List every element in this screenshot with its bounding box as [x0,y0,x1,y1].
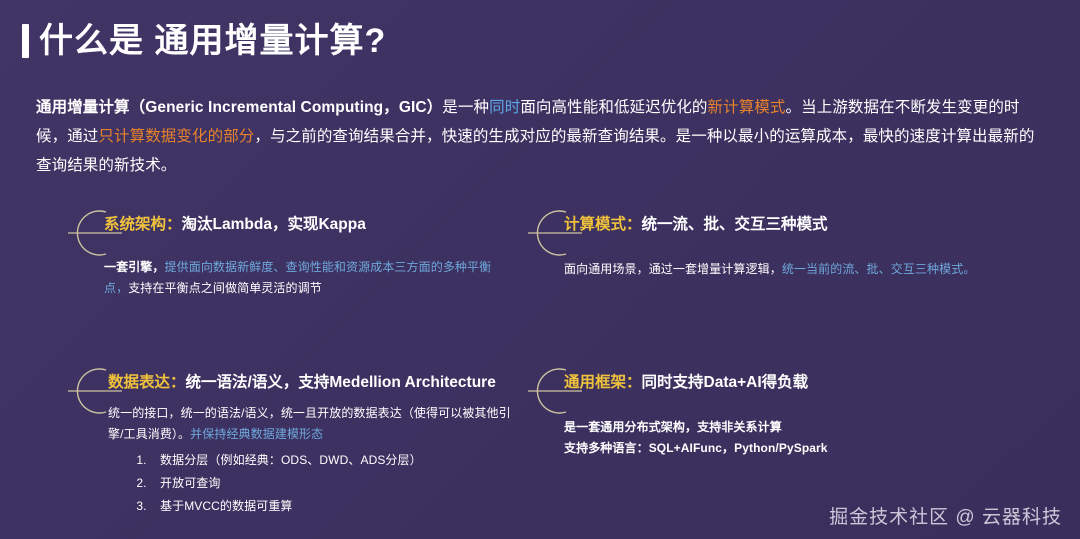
intro-highlight-delta-only: 只计算数据变化的部分 [98,128,254,145]
card-body-lead: 面向通用场景，通过一套增量计算逻辑， [564,262,782,276]
intro-text-1: 是一种 [442,99,489,116]
card-body-line-2: 支持多种语言：SQL+AIFunc，Python/PySpark [564,438,980,459]
card-title: 淘汰Lambda，实现Kappa [182,216,366,233]
card-label: 数据表达： [108,374,186,391]
card-title: 统一语法/语义，支持Medellion Architecture [186,374,496,391]
card-body: 是一套通用分布式架构，支持非关系计算 支持多种语言：SQL+AIFunc，Pyt… [564,417,980,459]
title-text: 什么是 通用增量计算? [39,24,386,58]
card-body-highlight: 统一当前的流、批、交互三种模式。 [782,262,976,276]
card-body: 面向通用场景，通过一套增量计算逻辑，统一当前的流、批、交互三种模式。 [564,259,980,280]
card-heading: 数据表达：统一语法/语义，支持Medellion Architecture [108,356,520,395]
card-label: 通用框架： [564,374,642,391]
intro-text-2: 面向高性能和低延迟优化的 [520,99,707,116]
intro-paragraph: 通用增量计算（Generic Incremental Computing，GIC… [36,93,1048,180]
page-title: 什么是 通用增量计算? [22,24,386,58]
card-generic-framework: 通用框架：同时支持Data+AI得负载 是一套通用分布式架构，支持非关系计算 支… [520,356,980,459]
card-body-tail: 支持在平衡点之间做简单灵活的调节 [128,281,322,295]
card-compute-mode: 计算模式：统一流、批、交互三种模式 面向通用场景，通过一套增量计算逻辑，统一当前… [520,198,980,280]
intro-term: 通用增量计算 [36,99,130,116]
list-item: 数据分层（例如经典：ODS、DWD、ADS分层） [150,449,520,472]
card-body-lead: 一套引擎， [104,260,165,274]
list-item: 基于MVCC的数据可重算 [150,495,520,518]
card-data-expression: 数据表达：统一语法/语义，支持Medellion Architecture 统一… [60,356,520,518]
card-label: 计算模式： [564,216,642,233]
intro-highlight-simultaneous: 同时 [489,99,520,116]
card-title: 统一流、批、交互三种模式 [642,216,828,233]
card-heading: 系统架构：淘汰Lambda，实现Kappa [104,198,500,237]
card-system-architecture: 系统架构：淘汰Lambda，实现Kappa 一套引擎，提供面向数据新鲜度、查询性… [60,198,500,299]
card-title: 同时支持Data+AI得负载 [642,374,809,391]
watermark: 掘金技术社区 @ 云器科技 [829,502,1062,529]
card-body-highlight: 并保持经典数据建模形态 [190,427,323,441]
card-body: 一套引擎，提供面向数据新鲜度、查询性能和资源成本三方面的多种平衡点，支持在平衡点… [104,257,500,299]
card-body: 统一的接口，统一的语法/语义，统一且开放的数据表达（使得可以被其他引擎/工具消费… [108,403,520,518]
title-accent-bar [22,24,29,58]
list-item: 开放可查询 [150,472,520,495]
card-heading: 计算模式：统一流、批、交互三种模式 [564,198,980,237]
slide-canvas: 什么是 通用增量计算? 通用增量计算（Generic Incremental C… [0,0,1080,539]
card-step-list: 数据分层（例如经典：ODS、DWD、ADS分层） 开放可查询 基于MVCC的数据… [108,449,520,518]
intro-highlight-new-mode: 新计算模式 [708,99,786,116]
card-label: 系统架构： [104,216,182,233]
card-body-line-1: 是一套通用分布式架构，支持非关系计算 [564,417,980,438]
card-heading: 通用框架：同时支持Data+AI得负载 [564,356,980,395]
intro-term-en: （Generic Incremental Computing，GIC） [130,99,443,116]
